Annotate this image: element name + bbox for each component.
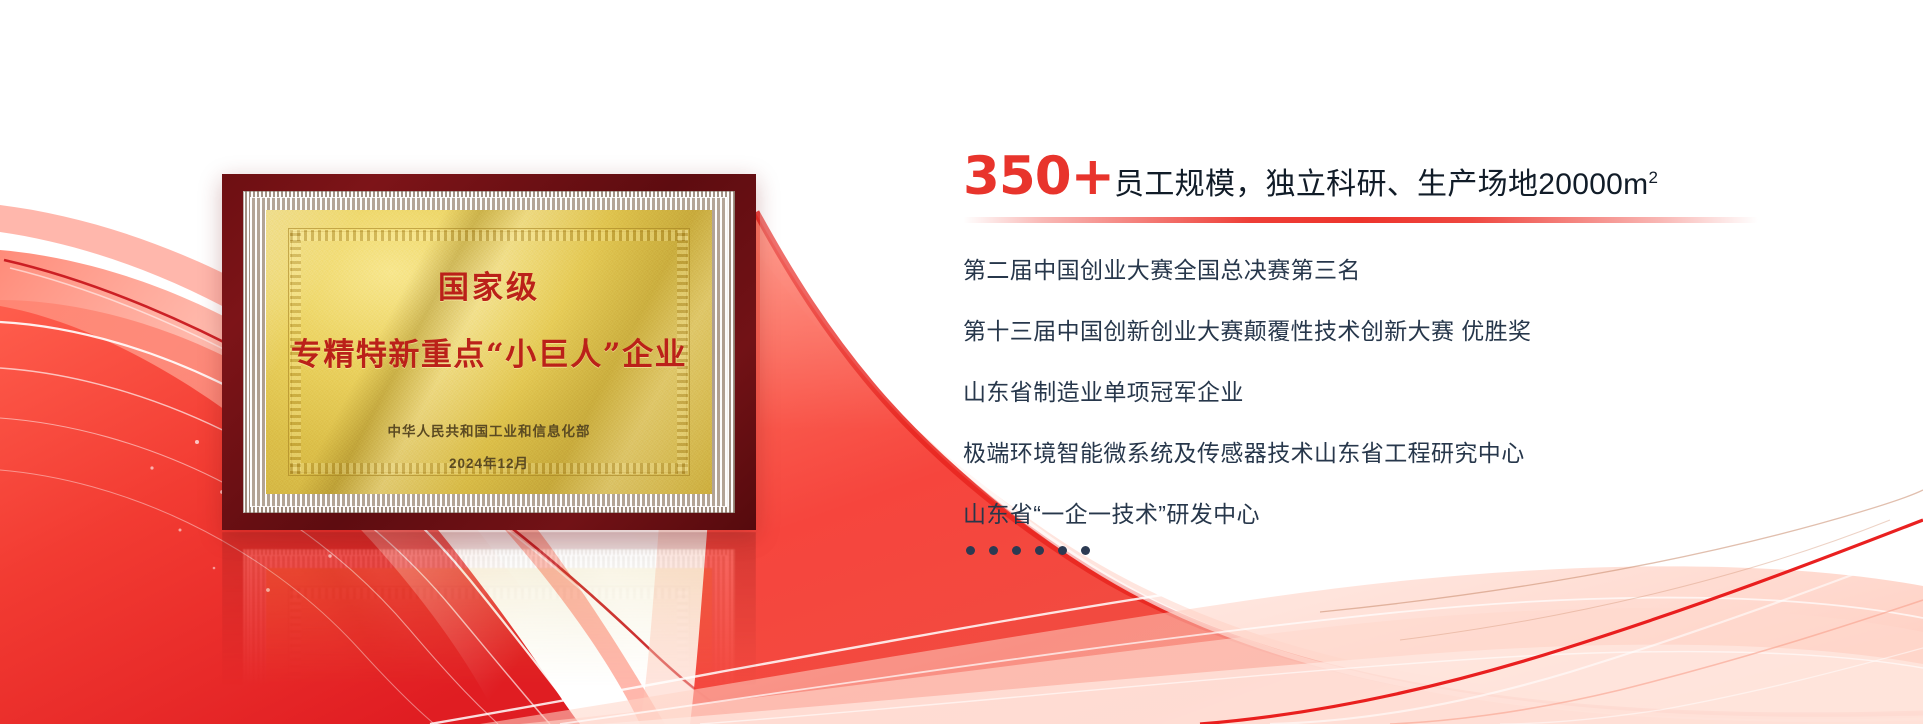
list-item: 极端环境智能微系统及传感器技术山东省工程研究中心 [963,442,1823,465]
plaque-ornate-frame-inner: 国家级 专精特新重点“小巨人”企业 中华人民共和国工业和信息化部 2024年12… [250,197,728,507]
reflection-gold-plate [266,568,712,712]
ellipsis-dot [1081,546,1090,555]
plaque-title-line2: 专精特新重点“小巨人”企业 [291,329,687,374]
plaque-gold-plate: 国家级 专精特新重点“小巨人”企业 中华人民共和国工业和信息化部 2024年12… [266,210,712,494]
plaque-outer-frame: 国家级 专精特新重点“小巨人”企业 中华人民共和国工业和信息化部 2024年12… [222,174,756,530]
headline-description: 员工规模，独立科研、生产场地20000m2 [1114,170,1658,200]
headline: 350+ 员工规模，独立科研、生产场地20000m2 [963,150,1823,212]
plaque-issuer: 中华人民共和国工业和信息化部 [388,420,591,440]
list-item: 第十三届中国创新创业大赛颠覆性技术创新大赛 优胜奖 [963,320,1823,343]
award-list: 第二届中国创业大赛全国总决赛第三名 第十三届中国创新创业大赛颠覆性技术创新大赛 … [963,259,1823,555]
ellipsis-dot [1058,546,1067,555]
plaque-reflection [222,532,756,712]
plaque-text-block: 国家级 专精特新重点“小巨人”企业 中华人民共和国工业和信息化部 2024年12… [266,210,712,494]
plaque-title-line1: 国家级 [438,262,540,307]
award-plaque: 国家级 专精特新重点“小巨人”企业 中华人民共和国工业和信息化部 2024年12… [222,174,756,530]
ellipsis-dot [989,546,998,555]
list-item: 山东省制造业单项冠军企业 [963,381,1823,404]
list-item: 第二届中国创业大赛全国总决赛第三名 [963,259,1823,282]
ellipsis-dot [1035,546,1044,555]
ellipsis-dot [966,546,975,555]
headline-description-text: 员工规模，独立科研、生产场地20000m [1114,168,1648,201]
headline-metric: 350+ [963,150,1114,203]
headline-divider [963,217,1758,223]
plaque-ornate-frame-outer: 国家级 专精特新重点“小巨人”企业 中华人民共和国工业和信息化部 2024年12… [243,191,735,513]
reflection-frame-inner [250,555,728,712]
headline-superscript: 2 [1648,168,1658,187]
list-item: 山东省“一企一技术”研发中心 [963,503,1823,526]
plaque-date: 2024年12月 [449,452,529,472]
content-column: 350+ 员工规模，独立科研、生产场地20000m2 第二届中国创业大赛全国总决… [963,150,1823,555]
ellipsis-dot [1012,546,1021,555]
reflection-frame [243,549,735,712]
list-ellipsis-dots [963,546,1823,555]
banner-root: 国家级 专精特新重点“小巨人”企业 中华人民共和国工业和信息化部 2024年12… [0,0,1923,724]
